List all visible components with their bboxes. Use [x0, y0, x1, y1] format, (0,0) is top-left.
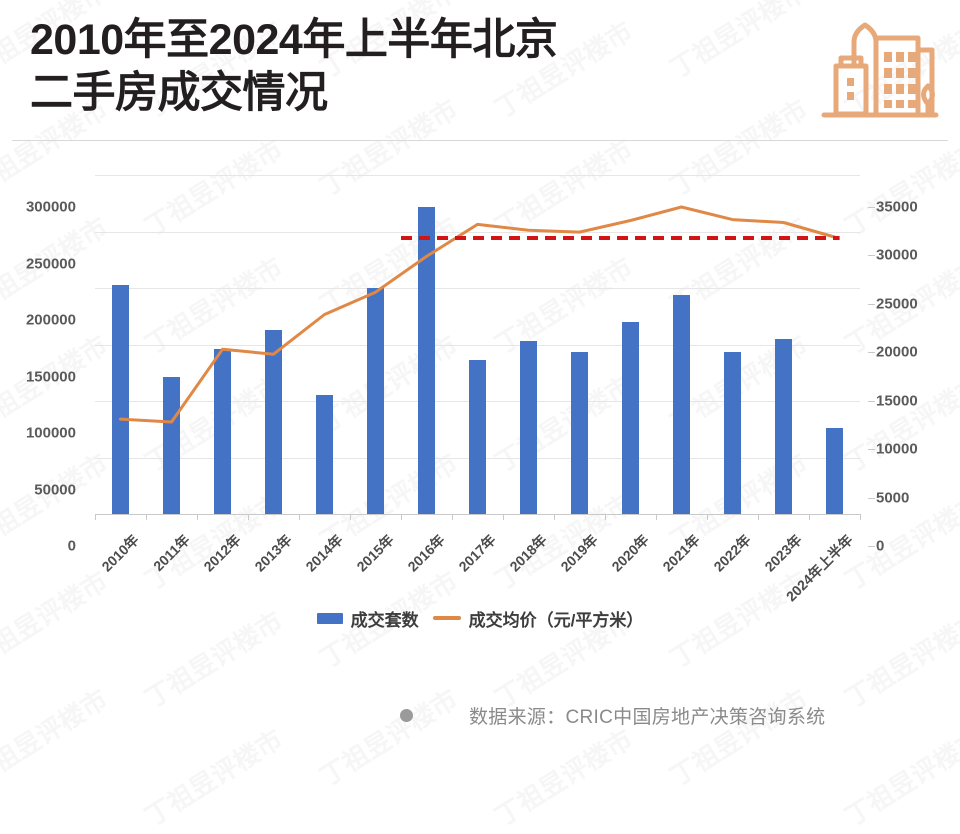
y-axis-left-tick: 200000	[26, 312, 76, 329]
data-source-text: 数据来源：CRIC中国房地产决策咨询系统	[469, 702, 825, 729]
dot-icon	[400, 709, 413, 722]
watermark-text: 丁祖昱评楼市	[837, 719, 960, 833]
watermark-text: 丁祖昱评楼市	[487, 719, 639, 833]
y-axis-right-tickmark	[868, 207, 875, 208]
y-axis-right-tickmark	[868, 352, 875, 353]
y-axis-right-tickmark	[868, 449, 875, 450]
y-axis-right-tickmark	[868, 498, 875, 499]
y-axis-right-tick: 5000	[876, 489, 909, 506]
chart-area: 050000100000150000200000250000300000 050…	[0, 143, 960, 643]
y-axis-right-tick: 15000	[876, 392, 918, 409]
line-series-layer	[95, 175, 860, 514]
y-axis-right-tick: 35000	[876, 199, 918, 216]
legend-line-label: 成交均价（元/平方米）	[469, 606, 644, 631]
x-axis-tickmark	[860, 514, 861, 520]
chart-legend: 成交套数 成交均价（元/平方米）	[0, 600, 960, 636]
y-axis-left-tick: 300000	[26, 199, 76, 216]
y-axis-right-tick: 20000	[876, 344, 918, 361]
y-axis-right-tick: 0	[876, 538, 884, 555]
x-axis-label: 2015年	[352, 530, 398, 576]
y-axis-left-tick: 150000	[26, 368, 76, 385]
y-axis-left-tick: 250000	[26, 255, 76, 272]
y-axis-right-tickmark	[868, 304, 875, 305]
x-axis-label: 2022年	[709, 530, 755, 576]
y-axis-right-tick: 25000	[876, 295, 918, 312]
watermark-text: 丁祖昱评楼市	[137, 719, 289, 833]
x-axis-label: 2023年	[760, 530, 806, 576]
x-axis-label: 2014年	[301, 530, 347, 576]
y-axis-right-tick: 30000	[876, 247, 918, 264]
legend-bar-swatch-icon	[317, 613, 343, 624]
footer: 数据来源：CRIC中国房地产决策咨询系统	[0, 695, 960, 735]
x-axis-label: 2011年	[148, 530, 194, 576]
x-axis-label: 2018年	[505, 530, 551, 576]
city-buildings-icon	[814, 16, 942, 128]
legend-bar-label: 成交套数	[351, 606, 419, 631]
x-axis-label: 2010年	[97, 530, 143, 576]
y-axis-right-labels: 05000100001500020000250003000035000	[868, 175, 954, 514]
legend-line-swatch-icon	[433, 616, 461, 620]
x-axis-label: 2020年	[607, 530, 653, 576]
y-axis-left-labels: 050000100000150000200000250000300000	[0, 175, 86, 514]
x-axis-label: 2017年	[454, 530, 500, 576]
page-title: 2010年至2024年上半年北京 二手房成交情况	[30, 14, 810, 120]
y-axis-right-tickmark	[868, 401, 875, 402]
y-axis-right-tick: 10000	[876, 441, 918, 458]
legend-item-bars[interactable]: 成交套数	[317, 606, 419, 631]
y-axis-right-tickmark	[868, 546, 875, 547]
y-axis-right-tickmark	[868, 255, 875, 256]
x-axis-label: 2021年	[658, 530, 704, 576]
header: 2010年至2024年上半年北京 二手房成交情况	[0, 0, 960, 143]
x-axis-label: 2019年	[556, 530, 602, 576]
y-axis-left-tick: 0	[68, 538, 76, 555]
x-axis-label: 2016年	[403, 530, 449, 576]
x-axis-label: 2013年	[250, 530, 296, 576]
legend-item-line[interactable]: 成交均价（元/平方米）	[433, 606, 644, 631]
title-line-1: 2010年至2024年上半年北京	[30, 14, 810, 67]
title-line-2: 二手房成交情况	[30, 67, 810, 120]
x-axis-label: 2012年	[199, 530, 245, 576]
y-axis-left-tick: 50000	[34, 481, 76, 498]
y-axis-left-tick: 100000	[26, 425, 76, 442]
infographic-root: 丁祖昱评楼市丁祖昱评楼市丁祖昱评楼市丁祖昱评楼市丁祖昱评楼市丁祖昱评楼市丁祖昱评…	[0, 0, 960, 772]
header-divider	[12, 140, 948, 141]
gridline	[95, 514, 860, 515]
